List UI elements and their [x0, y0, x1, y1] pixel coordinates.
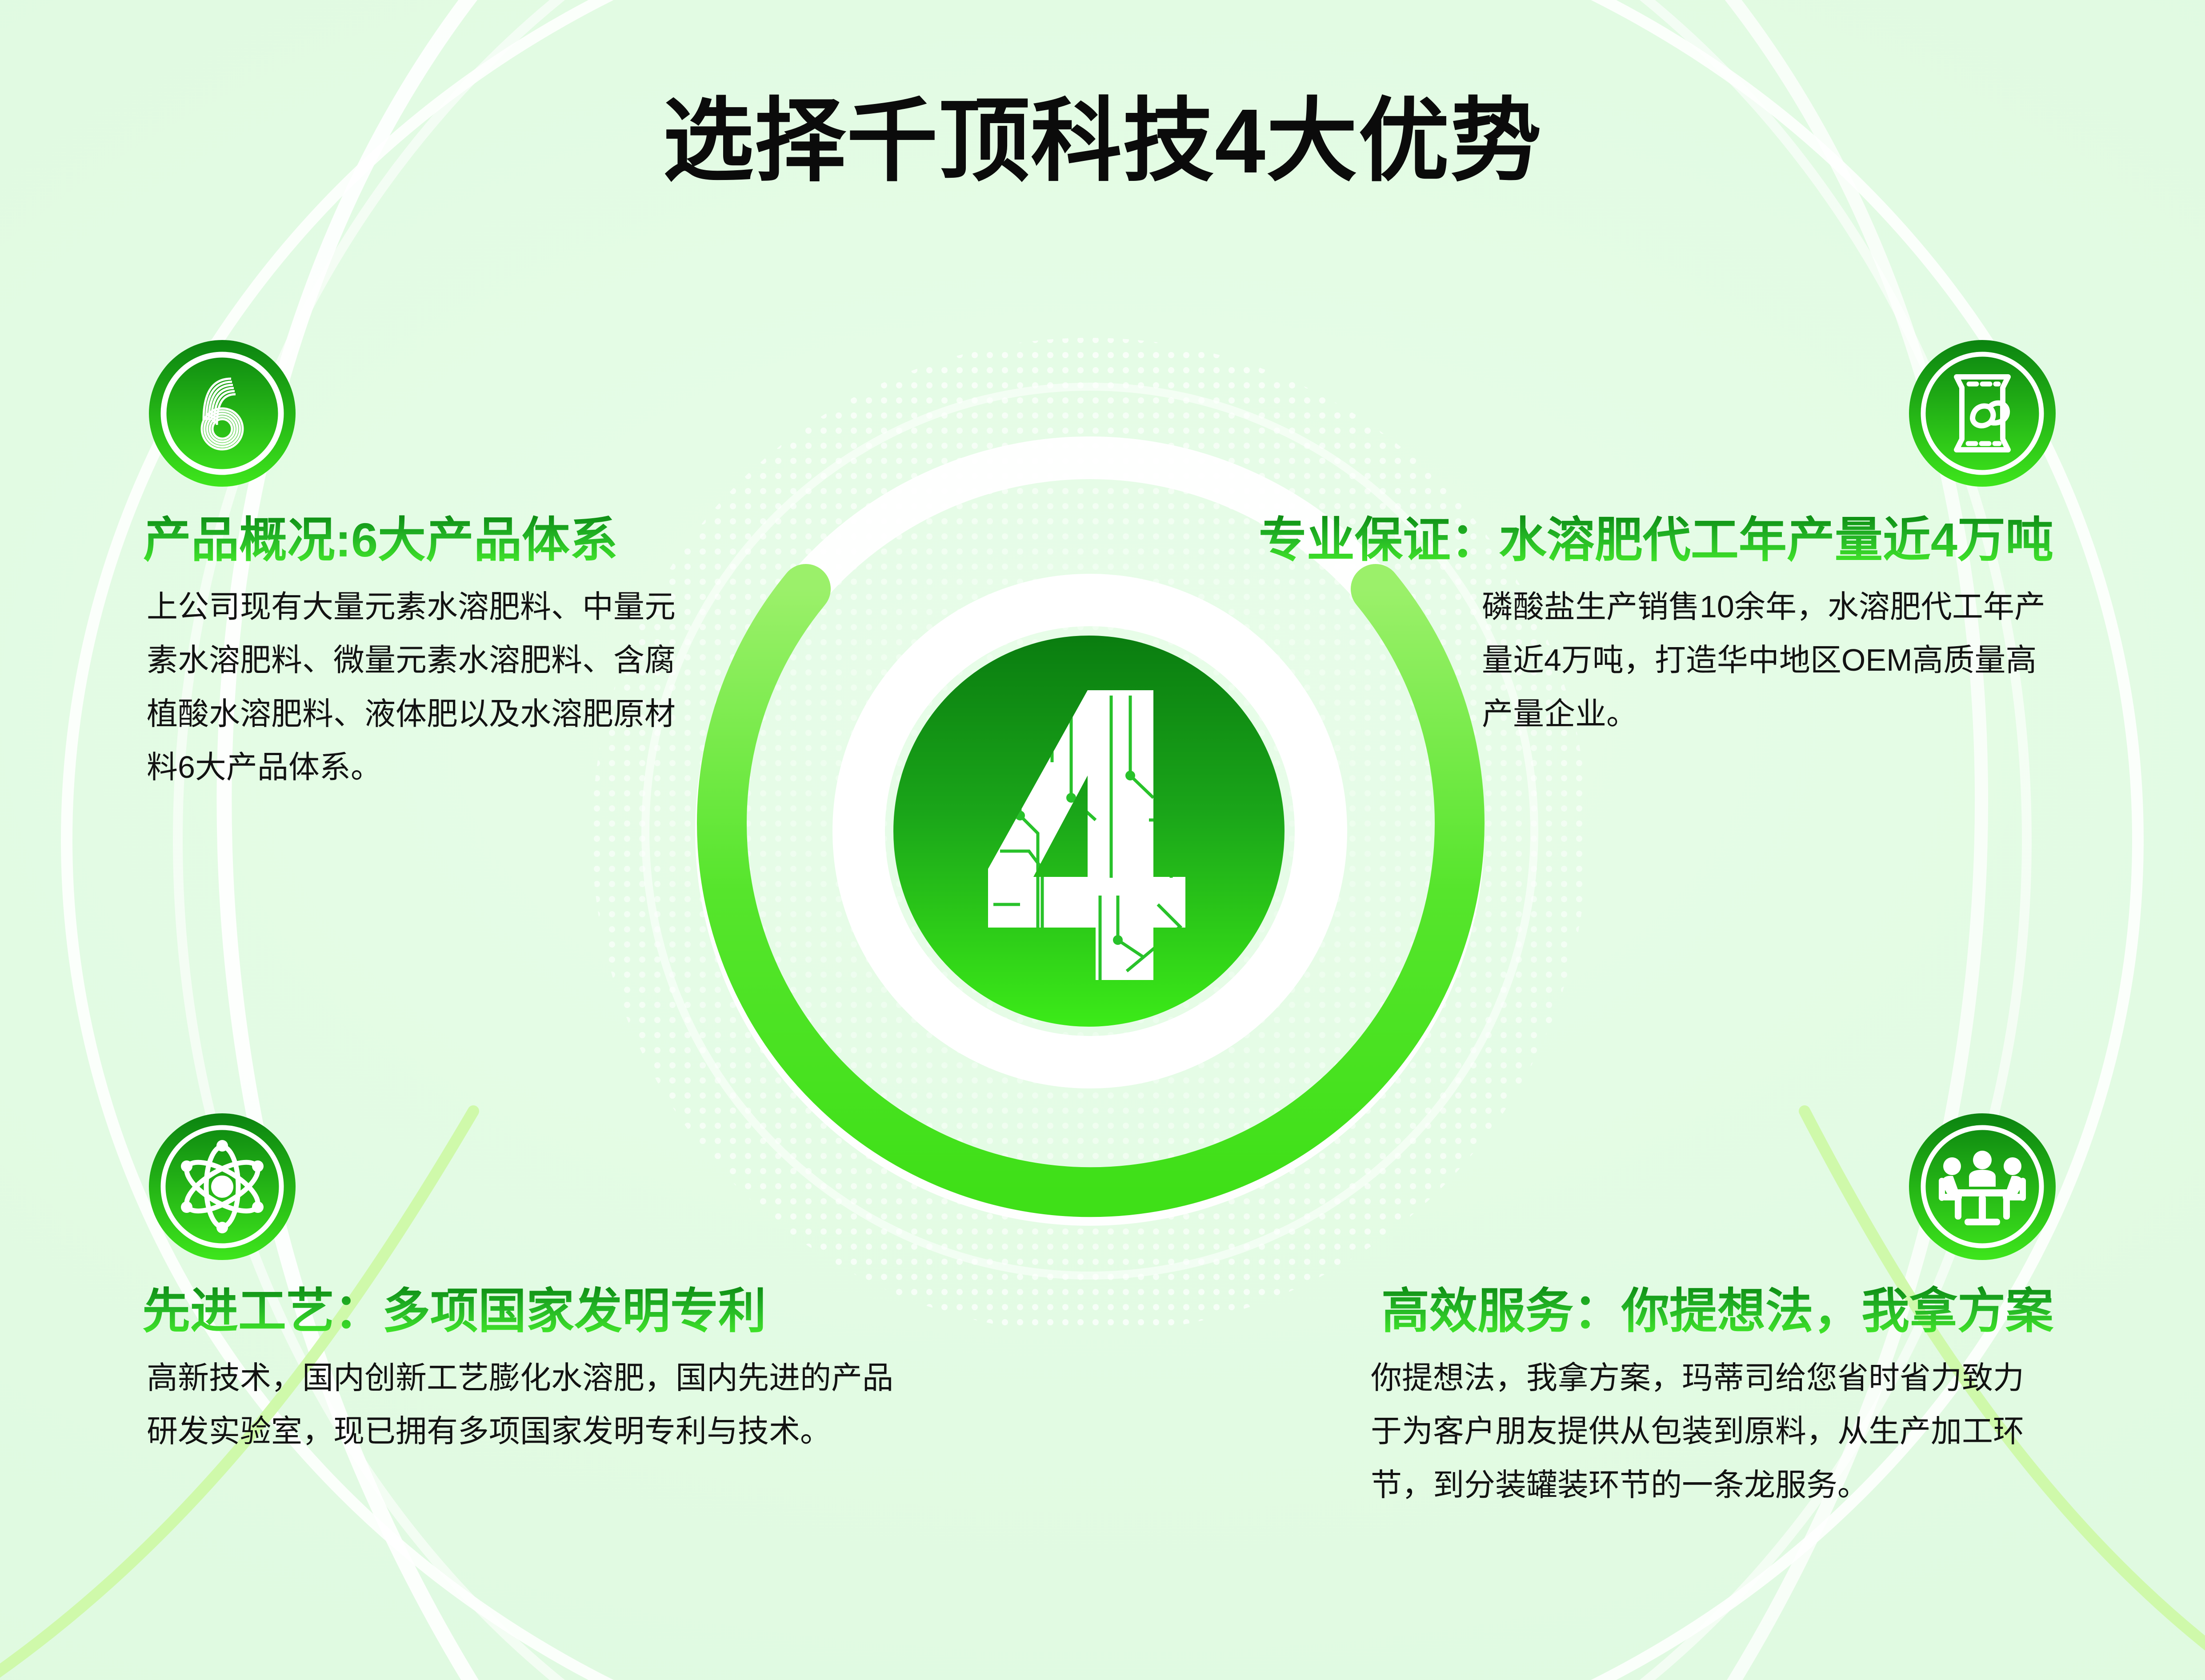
- card-heading: 先进工艺：多项国家发明专利: [142, 1284, 766, 1338]
- card-heading: 专业保证：水溶肥代工年产量近4万吨: [1259, 513, 2053, 567]
- number-six-rings-icon: [147, 338, 298, 489]
- fertilizer-bag-icon: [1907, 338, 2058, 489]
- card-body-text: 磷酸盐生产销售10余年，水溶肥代工年产量近4万吨，打造华中地区OEM高质量高产量…: [1482, 580, 2051, 740]
- card-heading: 高效服务：你提想法，我拿方案: [1381, 1284, 2053, 1338]
- atom-icon: [147, 1111, 298, 1262]
- card-body-text: 上公司现有大量元素水溶肥料、中量元素水溶肥料、微量元素水溶肥料、含腐植酸水溶肥料…: [147, 580, 698, 794]
- card-body-text: 高新技术，国内创新工艺膨化水溶肥，国内先进的产品研发实验室，现已拥有多项国家发明…: [147, 1351, 902, 1458]
- card-body-text: 你提想法，我拿方案，玛蒂司给您省时省力致力于为客户朋友提供从包装到原料，从生产加…: [1371, 1351, 2051, 1512]
- center-four-emblem: [887, 629, 1291, 1033]
- page-title: 选择千顶科技4大优势: [0, 96, 2205, 187]
- card-heading: 产品概况:6大产品体系: [143, 513, 618, 567]
- meeting-table-icon: [1907, 1111, 2058, 1262]
